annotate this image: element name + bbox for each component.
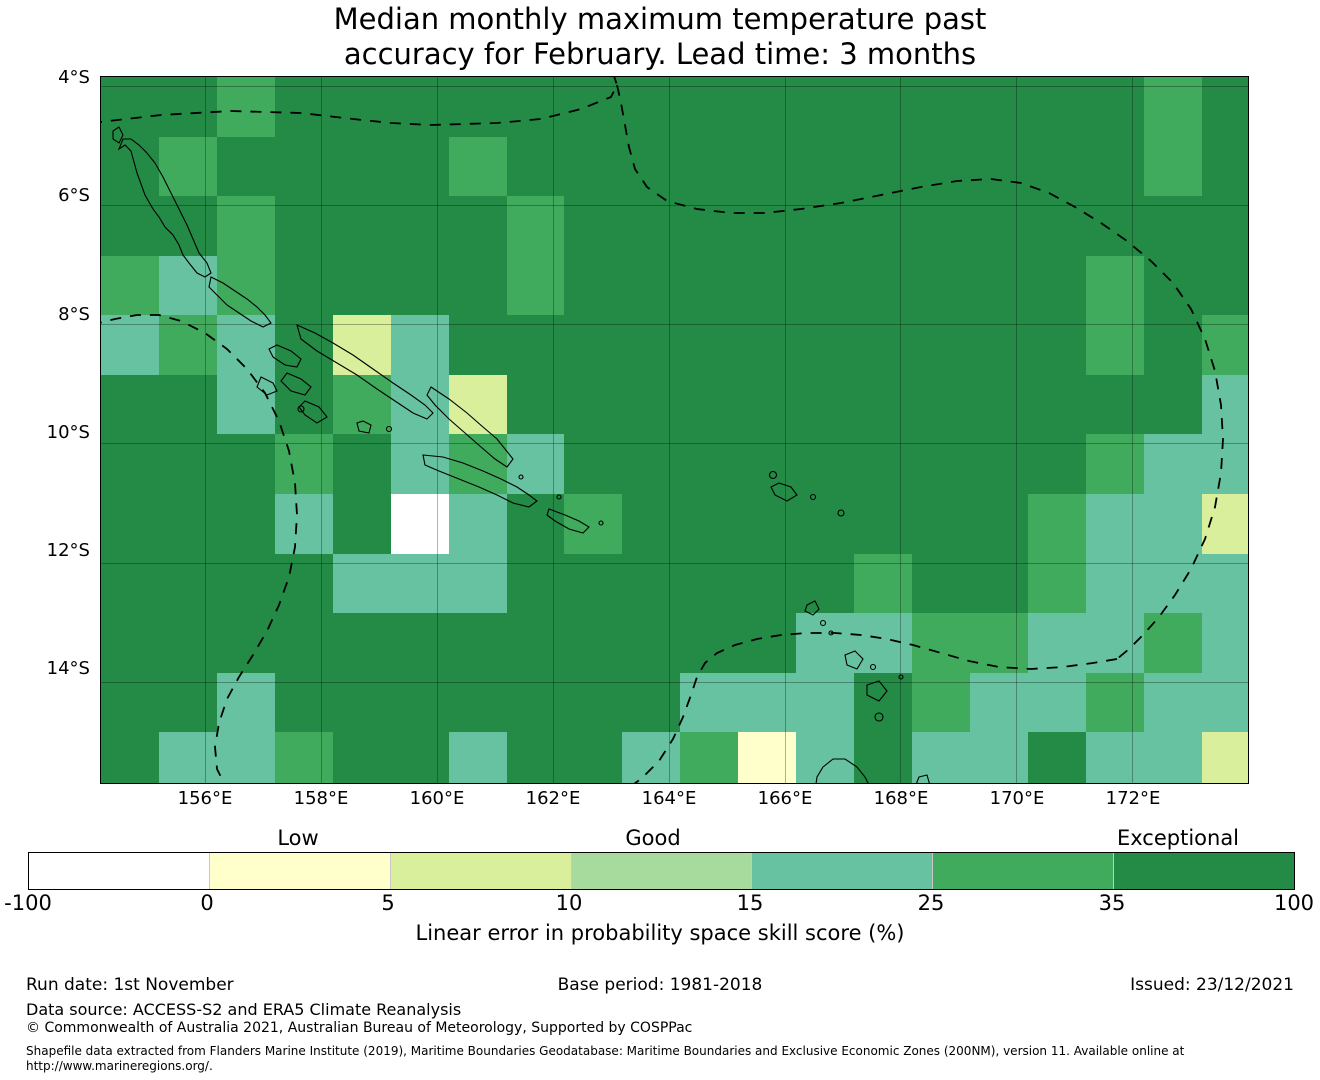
- x-axis-tick: 158°E: [261, 790, 381, 808]
- heatmap-cell: [1144, 137, 1203, 197]
- heatmap-cell: [680, 375, 739, 435]
- heatmap-cell: [507, 375, 566, 435]
- heatmap-cell: [1086, 673, 1145, 733]
- heatmap-cell: [275, 256, 334, 316]
- heatmap-cell: [275, 673, 334, 733]
- heatmap-cell: [1144, 494, 1203, 554]
- heatmap-cell: [1086, 256, 1145, 316]
- colorbar-swatch-0: [29, 853, 210, 889]
- colorbar-tick: 35: [1052, 893, 1172, 914]
- y-axis-tick: 10°S: [10, 424, 90, 442]
- heatmap-cell: [680, 554, 739, 614]
- heatmap-cell: [970, 315, 1029, 375]
- heatmap-cell: [1028, 315, 1087, 375]
- heatmap-cell: [275, 494, 334, 554]
- heatmap-cell: [275, 137, 334, 197]
- heatmap-cell: [507, 434, 566, 494]
- heatmap-cell: [622, 613, 681, 673]
- heatmap-cell: [159, 196, 218, 256]
- heatmap-cell: [738, 554, 797, 614]
- heatmap-cell: [970, 256, 1029, 316]
- heatmap-cell: [159, 732, 218, 784]
- colorbar-tick: 5: [328, 893, 448, 914]
- heatmap-cell: [970, 196, 1029, 256]
- heatmap-cell: [159, 673, 218, 733]
- heatmap-cell: [622, 673, 681, 733]
- heatmap-cell: [391, 315, 450, 375]
- map-plot-area: [100, 76, 1249, 784]
- heatmap-cell: [391, 673, 450, 733]
- heatmap-cell: [622, 375, 681, 435]
- heatmap-cell: [738, 77, 797, 137]
- heatmap-cell: [333, 77, 392, 137]
- heatmap-cell: [275, 196, 334, 256]
- heatmap-cell: [680, 315, 739, 375]
- heatmap-cell: [854, 256, 913, 316]
- heatmap-cell: [564, 77, 623, 137]
- x-axis-tick: 166°E: [725, 790, 845, 808]
- heatmap-cell: [217, 196, 276, 256]
- heatmap-cell: [680, 732, 739, 784]
- heatmap-cell: [449, 554, 508, 614]
- heatmap-cell: [449, 375, 508, 435]
- heatmap-cell: [333, 315, 392, 375]
- heatmap-cell: [912, 673, 971, 733]
- heatmap-cell: [1028, 137, 1087, 197]
- heatmap-cell: [507, 315, 566, 375]
- heatmap-cell: [391, 375, 450, 435]
- y-axis-tick: 6°S: [10, 187, 90, 205]
- heatmap-cell: [796, 673, 855, 733]
- heatmap-cell: [1086, 77, 1145, 137]
- heatmap-cell: [854, 375, 913, 435]
- heatmap-cell: [507, 77, 566, 137]
- colorbar-swatch-5: [933, 853, 1114, 889]
- heatmap-cell: [217, 732, 276, 784]
- heatmap-cell: [970, 673, 1029, 733]
- heatmap-cell: [101, 494, 160, 554]
- heatmap-cell: [1086, 375, 1145, 435]
- heatmap-cell: [1028, 256, 1087, 316]
- heatmap-cell: [738, 196, 797, 256]
- heatmap-cell: [1144, 315, 1203, 375]
- heatmap-cell: [796, 315, 855, 375]
- heatmap-cell: [449, 196, 508, 256]
- footer-copyright: © Commonwealth of Australia 2021, Austra…: [26, 1020, 692, 1037]
- heatmap-cell: [333, 256, 392, 316]
- heatmap-cell: [1202, 77, 1249, 137]
- heatmap-cell: [1028, 77, 1087, 137]
- heatmap-cell: [970, 434, 1029, 494]
- heatmap-cell: [217, 613, 276, 673]
- heatmap-cell: [564, 494, 623, 554]
- heatmap-cell: [391, 77, 450, 137]
- heatmap-cell: [564, 673, 623, 733]
- heatmap-cell: [1028, 613, 1087, 673]
- heatmap-cell: [622, 137, 681, 197]
- heatmap-cell: [854, 137, 913, 197]
- heatmap-cell: [507, 732, 566, 784]
- heatmap-cell: [449, 256, 508, 316]
- heatmap-cell: [680, 256, 739, 316]
- heatmap-cell: [622, 732, 681, 784]
- heatmap-cell: [101, 613, 160, 673]
- heatmap-cell: [507, 494, 566, 554]
- heatmap-cell: [449, 494, 508, 554]
- heatmap-cell: [391, 613, 450, 673]
- heatmap-cell: [333, 137, 392, 197]
- x-axis-tick: 156°E: [145, 790, 265, 808]
- heatmap-cell: [970, 613, 1029, 673]
- heatmap-cell: [564, 196, 623, 256]
- heatmap-cell: [1086, 137, 1145, 197]
- heatmap-cell: [1086, 732, 1145, 784]
- footer-shapefile-note: Shapefile data extracted from Flanders M…: [26, 1044, 1286, 1074]
- heatmap-cell: [854, 196, 913, 256]
- heatmap-cell: [738, 613, 797, 673]
- heatmap-cell: [854, 613, 913, 673]
- heatmap-cell: [796, 256, 855, 316]
- footer-issued-date: Issued: 23/12/2021: [1130, 975, 1294, 995]
- heatmap-cell: [275, 434, 334, 494]
- heatmap-cell: [1028, 434, 1087, 494]
- heatmap-cell: [1144, 554, 1203, 614]
- heatmap-cell: [101, 375, 160, 435]
- heatmap-cell: [1028, 673, 1087, 733]
- heatmap-cell: [333, 434, 392, 494]
- heatmap-cell: [854, 494, 913, 554]
- heatmap-cell: [680, 613, 739, 673]
- heatmap-cell: [1202, 673, 1249, 733]
- chart-title-line-1: Median monthly maximum temperature past: [0, 2, 1320, 37]
- heatmap-cell: [333, 196, 392, 256]
- heatmap-cell: [1144, 434, 1203, 494]
- heatmap-cell: [275, 375, 334, 435]
- chart-title-line-2: accuracy for February. Lead time: 3 mont…: [0, 37, 1320, 72]
- heatmap-cell: [1144, 196, 1203, 256]
- heatmap-cell: [507, 554, 566, 614]
- heatmap-cell: [275, 613, 334, 673]
- colorbar-swatch-1: [210, 853, 391, 889]
- heatmap-cell: [101, 196, 160, 256]
- heatmap-cell: [854, 554, 913, 614]
- heatmap-cell: [217, 494, 276, 554]
- heatmap-cell: [1086, 494, 1145, 554]
- heatmap-cell: [101, 554, 160, 614]
- heatmap-cell: [507, 256, 566, 316]
- colorbar: [28, 852, 1295, 890]
- heatmap-cell: [159, 434, 218, 494]
- heatmap-cell: [333, 375, 392, 435]
- colorbar-qualitative-label-exceptional: Exceptional: [1028, 828, 1320, 849]
- x-axis-tick: 168°E: [841, 790, 961, 808]
- heatmap-cell: [101, 434, 160, 494]
- colorbar-swatch-6: [1114, 853, 1294, 889]
- heatmap-cell: [796, 137, 855, 197]
- heatmap-cell: [854, 77, 913, 137]
- y-axis-tick: 12°S: [10, 542, 90, 560]
- heatmap-cell: [912, 256, 971, 316]
- colorbar-gradient: [28, 852, 1295, 890]
- heatmap-cell: [1086, 434, 1145, 494]
- heatmap-cell: [680, 137, 739, 197]
- heatmap-cell: [391, 494, 450, 554]
- heatmap-cell: [1028, 375, 1087, 435]
- heatmap-cell: [564, 554, 623, 614]
- heatmap-cell: [1202, 256, 1249, 316]
- heatmap-cell: [1086, 613, 1145, 673]
- heatmap-cell: [854, 673, 913, 733]
- heatmap-cell: [391, 256, 450, 316]
- x-axis-tick: 164°E: [609, 790, 729, 808]
- heatmap-cell: [159, 77, 218, 137]
- heatmap-cell: [507, 196, 566, 256]
- heatmap-cell: [391, 554, 450, 614]
- heatmap-cell: [796, 554, 855, 614]
- heatmap-cell: [1086, 196, 1145, 256]
- heatmap-cell: [101, 315, 160, 375]
- heatmap-cell: [680, 196, 739, 256]
- heatmap-cell: [1144, 256, 1203, 316]
- heatmap-cell: [275, 732, 334, 784]
- colorbar-qualitative-label-low: Low: [148, 828, 448, 849]
- heatmap-cell: [738, 673, 797, 733]
- heatmap-cell: [680, 494, 739, 554]
- heatmap-cell: [564, 613, 623, 673]
- heatmap-cell: [738, 256, 797, 316]
- colorbar-tick: 100: [1234, 893, 1320, 914]
- heatmap-cell: [912, 732, 971, 784]
- heatmap-cell: [622, 434, 681, 494]
- heatmap-cell: [333, 673, 392, 733]
- heatmap-cell: [449, 673, 508, 733]
- heatmap-cell: [275, 77, 334, 137]
- heatmap-cell: [449, 732, 508, 784]
- heatmap-cell: [796, 375, 855, 435]
- heatmap-cell: [217, 315, 276, 375]
- heatmap-cell: [101, 256, 160, 316]
- colorbar-tick: 15: [690, 893, 810, 914]
- heatmap-cell: [622, 554, 681, 614]
- heatmap-cell: [912, 315, 971, 375]
- heatmap-cell: [796, 732, 855, 784]
- heatmap-cell: [333, 613, 392, 673]
- heatmap-cell: [912, 196, 971, 256]
- heatmap-cell: [796, 196, 855, 256]
- heatmap-cell: [564, 137, 623, 197]
- colorbar-swatch-3: [572, 853, 753, 889]
- colorbar-swatch-4: [752, 853, 933, 889]
- heatmap-cell: [159, 137, 218, 197]
- heatmap-cell: [1144, 613, 1203, 673]
- heatmap-cell: [1202, 494, 1249, 554]
- y-axis-tick: 14°S: [10, 660, 90, 678]
- y-axis-tick: 4°S: [10, 69, 90, 87]
- heatmap-cell: [970, 494, 1029, 554]
- heatmap-cell: [1202, 732, 1249, 784]
- heatmap-cell: [1202, 554, 1249, 614]
- heatmap-cell: [796, 494, 855, 554]
- heatmap-cell: [391, 196, 450, 256]
- heatmap-cell: [217, 77, 276, 137]
- heatmap-cell: [622, 494, 681, 554]
- heatmap-cell: [912, 613, 971, 673]
- heatmap-cell: [680, 434, 739, 494]
- footer-base-period: Base period: 1981-2018: [0, 975, 1320, 995]
- heatmap-cell: [622, 315, 681, 375]
- heatmap-cell: [391, 137, 450, 197]
- heatmap-cell: [449, 434, 508, 494]
- footer-meta-row: Run date: 1st November Base period: 1981…: [0, 975, 1320, 999]
- heatmap-cell: [1144, 375, 1203, 435]
- heatmap-cell: [1144, 732, 1203, 784]
- heatmap-cell: [1144, 673, 1203, 733]
- heatmap-cell: [1202, 375, 1249, 435]
- heatmap-cell: [449, 137, 508, 197]
- heatmap-cell: [217, 434, 276, 494]
- heatmap-cell: [1028, 494, 1087, 554]
- heatmap-cell: [738, 315, 797, 375]
- heatmap-cell: [217, 673, 276, 733]
- heatmap-cell: [912, 77, 971, 137]
- heatmap-cell: [564, 256, 623, 316]
- x-axis-tick: 162°E: [493, 790, 613, 808]
- heatmap-cell: [159, 315, 218, 375]
- heatmap-cell: [333, 732, 392, 784]
- heatmap-cell: [449, 613, 508, 673]
- heatmap-cell: [1202, 315, 1249, 375]
- heatmap-cell: [564, 375, 623, 435]
- heatmap-cell: [738, 494, 797, 554]
- heatmap-cell: [622, 256, 681, 316]
- heatmap-cell: [217, 554, 276, 614]
- heatmap-cell: [738, 375, 797, 435]
- heatmap-cell: [1028, 732, 1087, 784]
- heatmap-cell: [275, 315, 334, 375]
- heatmap-cell: [854, 732, 913, 784]
- heatmap-cell: [159, 494, 218, 554]
- colorbar-swatch-2: [391, 853, 572, 889]
- heatmap-cell: [854, 434, 913, 494]
- colorbar-tick: 0: [147, 893, 267, 914]
- heatmap-cell: [1086, 554, 1145, 614]
- heatmap-cell: [507, 137, 566, 197]
- heatmap-cell: [680, 77, 739, 137]
- x-axis-tick: 172°E: [1073, 790, 1193, 808]
- heatmap-cell: [1086, 315, 1145, 375]
- heatmap-cell: [449, 315, 508, 375]
- heatmap-cell: [101, 732, 160, 784]
- colorbar-tick: 10: [509, 893, 629, 914]
- heatmap-cell: [796, 434, 855, 494]
- heatmap-cell: [738, 732, 797, 784]
- heatmap-cell: [796, 613, 855, 673]
- y-axis-tick: 8°S: [10, 306, 90, 324]
- colorbar-qualitative-label-good: Good: [503, 828, 803, 849]
- heatmap-cell: [738, 434, 797, 494]
- heatmap-cell: [101, 673, 160, 733]
- heatmap-cell: [854, 315, 913, 375]
- heatmap-cell: [159, 554, 218, 614]
- heatmap-cell: [391, 434, 450, 494]
- heatmap-cell: [217, 375, 276, 435]
- heatmap-cell: [101, 137, 160, 197]
- heatmap-cell: [970, 137, 1029, 197]
- heatmap-cell: [449, 77, 508, 137]
- heatmap-cell: [1202, 196, 1249, 256]
- heatmap-cell: [912, 554, 971, 614]
- heatmap-cell: [622, 77, 681, 137]
- heatmap-cell: [159, 256, 218, 316]
- heatmap-cell: [912, 375, 971, 435]
- heatmap-cell: [159, 613, 218, 673]
- heatmap-cell: [1202, 434, 1249, 494]
- heatmap-cell: [564, 732, 623, 784]
- heatmap-cell: [912, 494, 971, 554]
- heatmap-cell: [217, 137, 276, 197]
- heatmap-cell: [970, 77, 1029, 137]
- x-axis-tick: 170°E: [957, 790, 1077, 808]
- heatmap-cell: [507, 613, 566, 673]
- heatmap-cell: [564, 315, 623, 375]
- heatmap-cell: [970, 732, 1029, 784]
- heatmap-cell: [1144, 77, 1203, 137]
- heatmap-cell: [1202, 613, 1249, 673]
- heatmap-cell: [564, 434, 623, 494]
- x-axis-tick: 160°E: [377, 790, 497, 808]
- colorbar-axis-label: Linear error in probability space skill …: [0, 921, 1320, 945]
- heatmap-cell: [391, 732, 450, 784]
- heatmap-cell: [1028, 554, 1087, 614]
- heatmap-cell: [970, 554, 1029, 614]
- heatmap-cell: [333, 494, 392, 554]
- heatmap-cell: [912, 137, 971, 197]
- heatmap-cell: [796, 77, 855, 137]
- heatmap-cell: [275, 554, 334, 614]
- heatmap-cell: [159, 375, 218, 435]
- heatmap-cell: [1202, 137, 1249, 197]
- heatmap-cell: [507, 673, 566, 733]
- chart-title: Median monthly maximum temperature past …: [0, 2, 1320, 72]
- heatmap-cell: [217, 256, 276, 316]
- heatmap-cell: [1028, 196, 1087, 256]
- footer-data-source: Data source: ACCESS-S2 and ERA5 Climate …: [26, 1000, 461, 1019]
- heatmap-cells: [101, 77, 1248, 783]
- heatmap-cell: [333, 554, 392, 614]
- heatmap-cell: [738, 137, 797, 197]
- heatmap-cell: [101, 77, 160, 137]
- colorbar-tick: -100: [0, 893, 88, 914]
- colorbar-tick: 25: [871, 893, 991, 914]
- heatmap-cell: [970, 375, 1029, 435]
- heatmap-cell: [680, 673, 739, 733]
- heatmap-cell: [912, 434, 971, 494]
- heatmap-cell: [622, 196, 681, 256]
